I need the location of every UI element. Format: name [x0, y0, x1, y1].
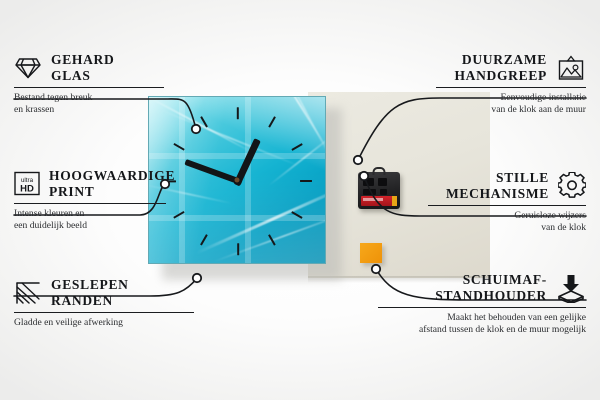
clock-tick	[268, 234, 276, 245]
clock-tick	[268, 116, 276, 127]
clock-tick	[173, 143, 184, 151]
infographic-canvas: GEHARD GLAS Bestand tegen breuk en krass…	[0, 0, 600, 400]
picture-frame-icon	[556, 55, 586, 81]
feature-description: Intense kleuren en een duidelijk beeld	[14, 208, 166, 231]
battery	[361, 196, 397, 206]
clock-center-cap	[235, 178, 240, 183]
clock-tick	[200, 234, 208, 245]
diamond-icon	[14, 56, 42, 80]
divider	[14, 312, 194, 313]
press-down-icon	[556, 273, 586, 303]
feature-title: GEHARD GLAS	[51, 52, 114, 83]
divider	[14, 87, 164, 88]
divider	[378, 307, 586, 308]
clock-tick	[237, 243, 239, 255]
feature-title: DUURZAME HANDGREEP	[454, 52, 547, 83]
feature-duurzame-handgreep: DUURZAME HANDGREEP Eenvoudige installati…	[436, 52, 586, 115]
clock-tick	[300, 180, 312, 182]
clock-tick	[200, 116, 208, 127]
feature-title: STILLE MECHANISME	[446, 170, 549, 201]
beveled-edges-icon	[14, 281, 42, 305]
divider	[428, 205, 586, 206]
gear-icon	[558, 172, 586, 199]
clock-tick	[237, 107, 239, 119]
feature-description: Geruisloze wijzers van de klok	[428, 210, 586, 233]
feature-hoogwaardige-print: ultra HD HOOGWAARDIGE PRINT Intense kleu…	[14, 168, 166, 231]
foam-spacer	[360, 243, 382, 263]
feature-description: Eenvoudige installatie van de klok aan d…	[436, 92, 586, 115]
feature-description: Maakt het behouden van een gelijke afsta…	[378, 312, 586, 335]
feature-schuimafstandhouder: SCHUIMAF- STANDHOUDER Maakt het behouden…	[378, 272, 586, 335]
clock-mechanism	[358, 172, 400, 209]
clock-face	[149, 97, 325, 263]
clock-tick	[173, 211, 184, 219]
svg-text:HD: HD	[20, 184, 34, 195]
ultra-hd-icon: ultra HD	[14, 171, 40, 196]
clock-tick	[291, 143, 302, 151]
divider	[14, 203, 166, 204]
feature-description: Bestand tegen breuk en krassen	[14, 92, 164, 115]
feature-geslepen-randen: GESLEPEN RANDEN Gladde en veilige afwerk…	[14, 277, 194, 329]
feature-title: SCHUIMAF- STANDHOUDER	[435, 272, 547, 303]
mechanism-hanger	[373, 167, 386, 175]
feature-stille-mechanisme: STILLE MECHANISME Geruisloze wijzers van…	[428, 170, 586, 233]
feature-description: Gladde en veilige afwerking	[14, 317, 194, 329]
feature-title: GESLEPEN RANDEN	[51, 277, 129, 308]
clock-tick	[291, 211, 302, 219]
divider	[436, 87, 586, 88]
feature-title: HOOGWAARDIGE PRINT	[49, 168, 175, 199]
feature-gehard-glas: GEHARD GLAS Bestand tegen breuk en krass…	[14, 52, 164, 115]
